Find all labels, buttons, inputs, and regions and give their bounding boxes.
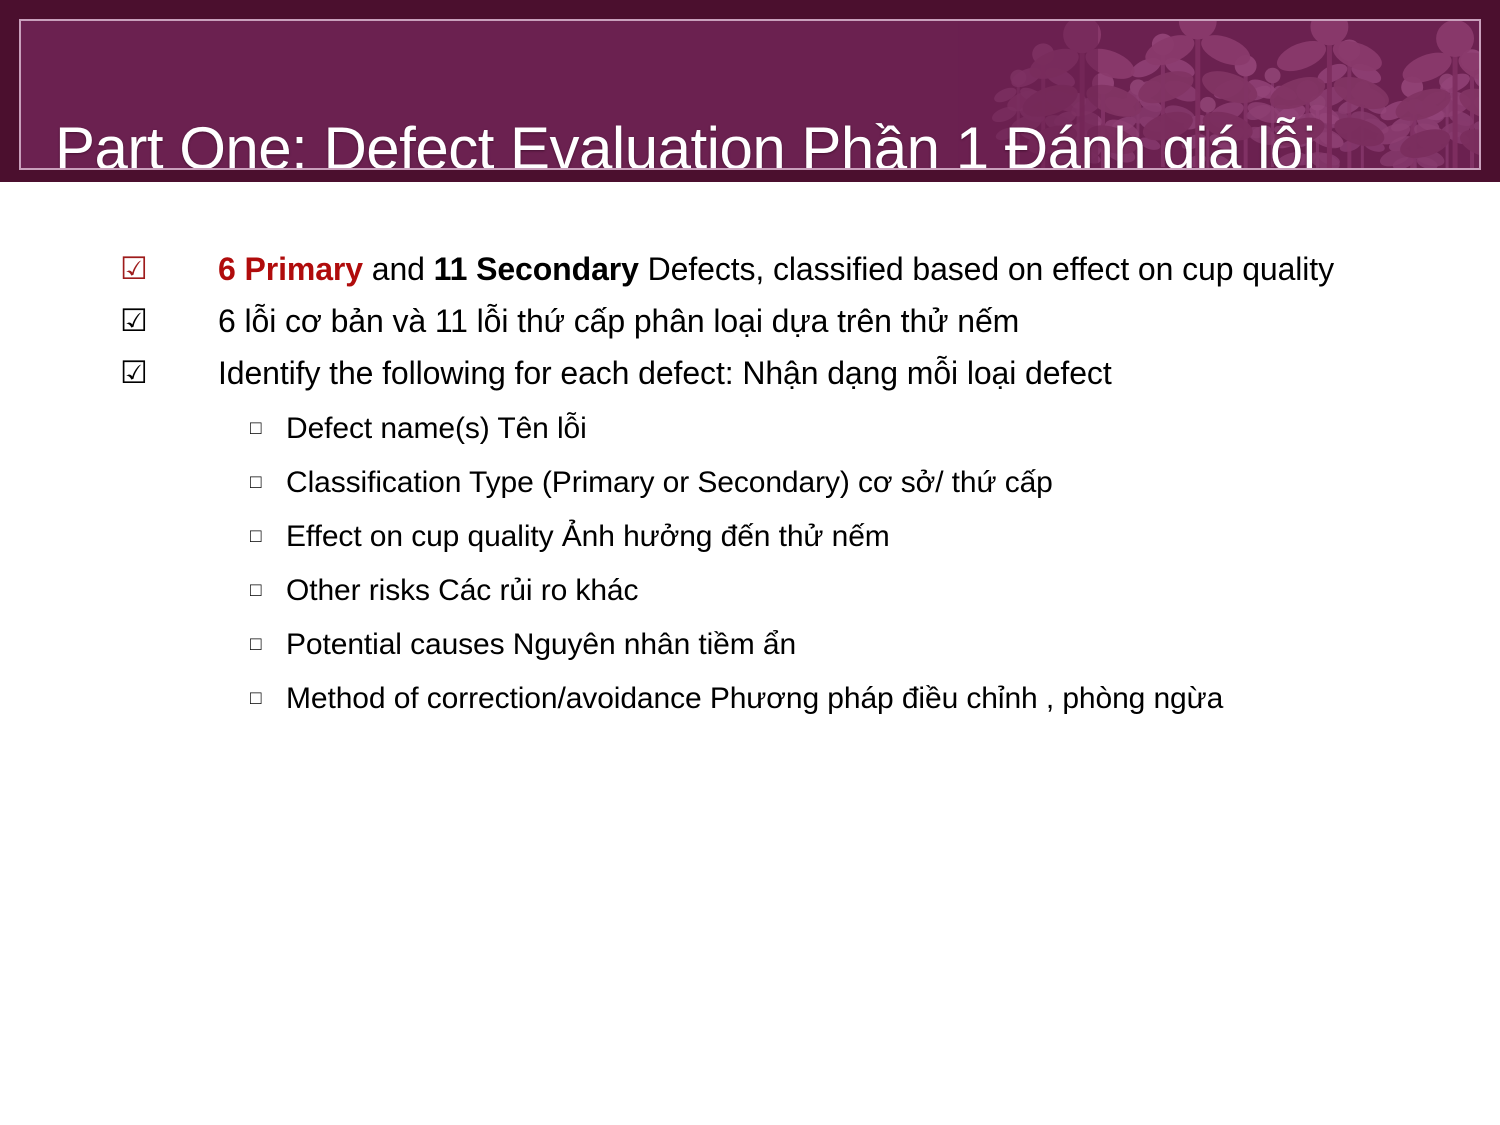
bullet-run-primary: 6 Primary <box>218 251 363 287</box>
sub-bullet-text: Classification Type (Primary or Secondar… <box>286 456 1408 510</box>
bullet-text: 6 Primary and 11 Secondary Defects, clas… <box>218 244 1408 294</box>
sub-bullet-text: Other risks Các rủi ro khác <box>286 564 1408 618</box>
bullet-run-secondary: 11 Secondary <box>434 251 639 287</box>
sub-bullet-text: Method of correction/avoidance Phương ph… <box>286 672 1408 726</box>
bullet-run-and: and <box>363 251 434 287</box>
checkbox-checked-icon: ☑ <box>118 244 218 294</box>
sub-bullet-item: □ Potential causes Nguyên nhân tiềm ẩn <box>250 618 1408 672</box>
square-bullet-icon: □ <box>250 672 286 726</box>
checkbox-checked-icon: ☑ <box>118 348 218 398</box>
square-bullet-icon: □ <box>250 564 286 618</box>
bullet-text: 6 lỗi cơ bản và 11 lỗi thứ cấp phân loại… <box>218 296 1408 346</box>
bullet-item: ☑ 6 Primary and 11 Secondary Defects, cl… <box>118 244 1408 294</box>
bullet-run-tail: Defects, classified based on effect on c… <box>639 251 1334 287</box>
slide-header-band: Part One: Defect Evaluation Phần 1 Đánh … <box>0 0 1500 182</box>
square-bullet-icon: □ <box>250 402 286 456</box>
square-bullet-icon: □ <box>250 618 286 672</box>
sub-bullet-item: □ Method of correction/avoidance Phương … <box>250 672 1408 726</box>
square-bullet-icon: □ <box>250 510 286 564</box>
slide-header-inner-panel: Part One: Defect Evaluation Phần 1 Đánh … <box>19 19 1481 170</box>
slide-title: Part One: Defect Evaluation Phần 1 Đánh … <box>55 117 1316 170</box>
slide-body: ☑ 6 Primary and 11 Secondary Defects, cl… <box>0 182 1500 1125</box>
sub-bullet-item: □ Effect on cup quality Ảnh hưởng đến th… <box>250 510 1408 564</box>
sub-bullet-text: Effect on cup quality Ảnh hưởng đến thử … <box>286 510 1408 564</box>
sub-bullet-text: Defect name(s) Tên lỗi <box>286 402 1408 456</box>
sub-bullet-item: □ Classification Type (Primary or Second… <box>250 456 1408 510</box>
bullet-item: ☑ 6 lỗi cơ bản và 11 lỗi thứ cấp phân lo… <box>118 296 1408 346</box>
checkbox-checked-icon: ☑ <box>118 296 218 346</box>
sub-bullet-list: □ Defect name(s) Tên lỗi □ Classificatio… <box>118 402 1408 726</box>
sub-bullet-item: □ Defect name(s) Tên lỗi <box>250 402 1408 456</box>
sub-bullet-text: Potential causes Nguyên nhân tiềm ẩn <box>286 618 1408 672</box>
sub-bullet-item: □ Other risks Các rủi ro khác <box>250 564 1408 618</box>
bullet-item: ☑ Identify the following for each defect… <box>118 348 1408 398</box>
slide-root: Part One: Defect Evaluation Phần 1 Đánh … <box>0 0 1500 1125</box>
bullet-text: Identify the following for each defect: … <box>218 348 1408 398</box>
square-bullet-icon: □ <box>250 456 286 510</box>
bullet-list: ☑ 6 Primary and 11 Secondary Defects, cl… <box>118 244 1408 726</box>
